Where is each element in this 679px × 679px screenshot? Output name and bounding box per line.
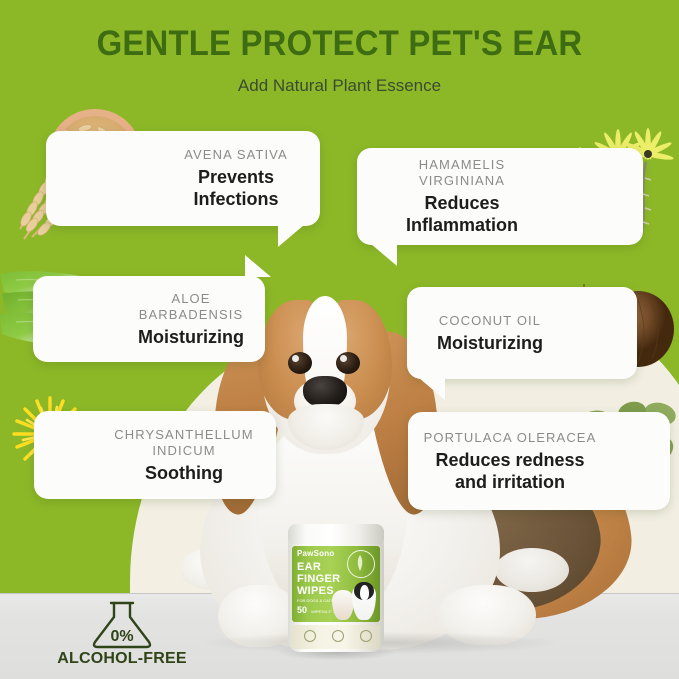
ingredient-benefit: Reduces Inflammation [367,192,557,236]
page-subtitle: Add Natural Plant Essence [0,75,679,97]
ingredient-benefit: Moisturizing [415,332,565,354]
product-brand: PawSono [297,549,334,558]
dog-eye-highlight-left [292,355,299,362]
ingredient-card-text: ALOE BARBADENSIS Moisturizing [123,276,259,362]
ingredient-card-text: CHRYSANTHELLUM INDICUM Soothing [96,411,272,499]
ingredient-card-aloe-barbadensis[interactable]: ALOE BARBADENSIS Moisturizing [33,276,265,362]
ingredient-card-text: AVENA SATIVA Prevents Infections [156,131,316,226]
product-jar[interactable]: PawSono EAR FINGER WIPES FOR DOGS & CATS… [288,524,384,652]
ingredient-name-line2: VIRGINIANA [367,173,557,189]
jar-cat-photo [332,590,354,620]
dog-eye-left [288,352,312,374]
ingredient-name-line2: BARBADENSIS [123,307,259,323]
product-name-line1: EAR [297,561,345,573]
ingredient-benefit: Moisturizing [123,326,259,348]
jar-icon-natural [332,630,344,642]
ingredient-benefit: Prevents Infections [156,166,316,210]
jar-seal-icon [347,550,375,578]
ingredient-name-line1: CHRYSANTHELLUM [96,427,272,443]
ingredient-name: AVENA SATIVA [156,147,316,163]
alcohol-free-label: ALCOHOL-FREE [42,650,202,668]
ingredient-benefit: Soothing [96,462,272,484]
ingredient-card-hamamelis-virginiana[interactable]: HAMAMELIS VIRGINIANA Reduces Inflammatio… [357,148,643,245]
product-count: 50 [297,605,307,615]
ingredient-name-line2: INDICUM [96,443,272,459]
card-tail [245,255,271,277]
jar-icon-alcohol-free [360,630,372,642]
jar-pet-photos [326,578,378,622]
card-tail [419,378,445,400]
ingredient-benefit-line1: Reduces redness [414,449,606,471]
ingredient-name-line1: ALOE [123,291,259,307]
jar-label: PawSono EAR FINGER WIPES FOR DOGS & CATS… [292,546,380,622]
dog-eye-highlight-right [340,355,347,362]
ingredient-benefit-line2: and irritation [414,471,606,493]
jar-lid [288,524,384,544]
jar-icon-gentle [304,630,316,642]
ingredient-name: COCONUT OIL [415,313,565,329]
ingredient-name: PORTULACA OLERACEA [414,430,606,446]
ingredient-card-text: HAMAMELIS VIRGINIANA Reduces Inflammatio… [367,148,557,245]
ingredient-card-text: PORTULACA OLERACEA Reduces redness and i… [414,412,606,510]
ingredient-card-text: COCONUT OIL Moisturizing [415,287,565,379]
dog-eye-right [336,352,360,374]
jar-dog-face [360,585,369,600]
alcohol-free-badge: 0% ALCOHOL-FREE [42,600,202,672]
page-title: GENTLE PROTECT PET'S EAR [20,24,658,64]
ingredient-card-chrysanthellum-indicum[interactable]: CHRYSANTHELLUM INDICUM Soothing [34,411,276,499]
jar-footer-band [292,625,380,649]
ingredient-card-portulaca-oleracea[interactable]: PORTULACA OLERACEA Reduces redness and i… [408,412,670,510]
card-tail [278,225,304,247]
card-tail [371,244,397,266]
ingredient-name-line1: HAMAMELIS [367,157,557,173]
alcohol-percent: 0% [94,628,150,646]
ingredient-card-avena-sativa[interactable]: AVENA SATIVA Prevents Infections [46,131,320,226]
dog-paw-back-right [495,548,569,592]
ingredient-card-coconut-oil[interactable]: COCONUT OIL Moisturizing [407,287,637,379]
infographic-canvas: GENTLE PROTECT PET'S EAR Add Natural Pla… [0,0,679,679]
